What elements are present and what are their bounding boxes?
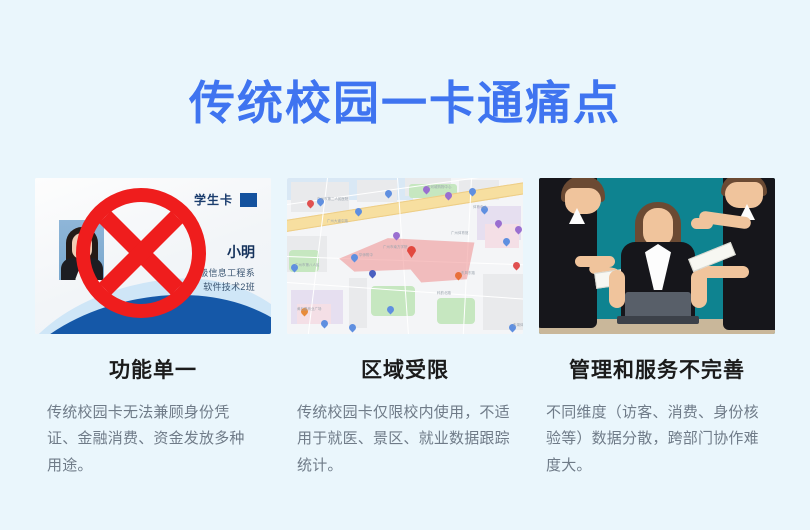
pain-point-body: 传统校园卡仅限校内使用，不适用于就医、景区、就业数据跟踪统计。 [297,400,513,479]
pain-point-card-single-function: 学生卡 小明 23级信息工程系 软件技术2班 功能单一 传 [31,178,275,479]
pain-points-columns: 学生卡 小明 23级信息工程系 软件技术2班 功能单一 传 [0,178,810,479]
map-park [437,298,475,324]
student-id-card-image: 学生卡 小明 23级信息工程系 软件技术2班 [35,178,271,334]
pain-point-card-management-service: 管理和服务不完善 不同维度（访客、消费、身份核验等）数据分散，跨部门协作难度大。 [535,178,779,479]
office-illustration-image [539,178,775,334]
right-colleague-arm [699,266,749,278]
map-canvas: 广州市第二人民医院 广州大道中路 天河城购物中心 体育中心 广州体育馆 华师附中… [287,178,523,334]
right-colleague-head [725,182,763,208]
right-colleague-pointing-hand [691,218,713,229]
card-chip-icon [240,193,257,207]
office-scene [539,178,775,334]
pain-point-card-area-limited: 广州市第二人民医院 广州大道中路 天河城购物中心 体育中心 广州体育馆 华师附中… [283,178,527,479]
laptop-base [617,316,699,324]
red-x-cross-icon [73,185,209,321]
center-person-arm-left [609,270,625,308]
pain-point-heading: 管理和服务不完善 [569,354,745,384]
map-image: 广州市第二人民医院 广州大道中路 天河城购物中心 体育中心 广州体育馆 华师附中… [287,178,523,334]
map-block [349,278,367,328]
map-poi [512,261,522,271]
left-colleague-head [565,188,601,214]
center-person-head [643,208,673,246]
page-title: 传统校园一卡通痛点 [0,78,810,129]
pain-point-body: 不同维度（访客、消费、身份核验等）数据分散，跨部门协作难度大。 [546,400,768,479]
pain-point-heading: 区域受限 [361,354,449,384]
student-name: 小明 [227,242,255,262]
pain-point-body: 传统校园卡无法兼顾身份凭证、金融消费、资金发放多种用途。 [47,400,259,479]
pain-point-heading: 功能单一 [109,354,197,384]
student-class: 软件技术2班 [203,280,255,293]
